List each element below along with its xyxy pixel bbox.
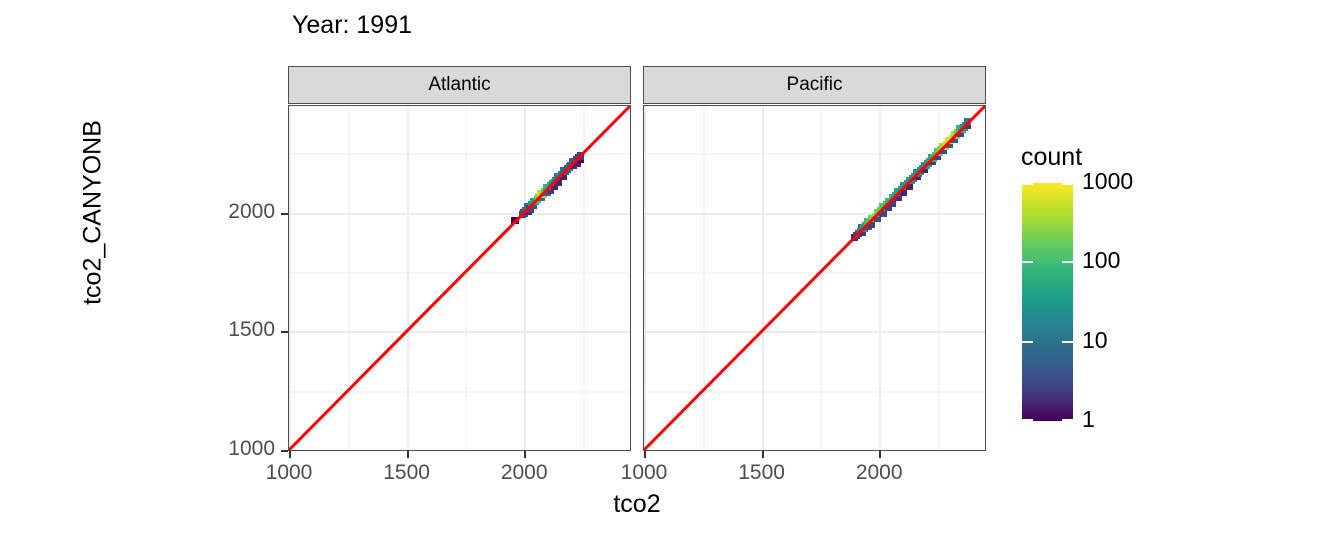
reference-line-1to1 bbox=[644, 106, 985, 450]
axis-tick-y bbox=[281, 213, 288, 215]
panel-plot-area bbox=[644, 106, 985, 450]
legend-tick-mark bbox=[1022, 183, 1033, 185]
legend-tick-mark bbox=[1062, 419, 1073, 421]
axis-tick-x bbox=[524, 451, 526, 458]
axis-tick-label-x: 1500 bbox=[357, 461, 457, 485]
panel-pacific bbox=[643, 105, 986, 451]
plot-root: Year: 1991 Atlantic Pacific 100015002000… bbox=[0, 0, 1344, 537]
facet-strip-atlantic: Atlantic bbox=[288, 66, 631, 104]
axis-tick-label-x: 2000 bbox=[474, 461, 574, 485]
legend-tick-mark bbox=[1062, 183, 1073, 185]
axis-tick-label-y: 1000 bbox=[170, 437, 275, 461]
axis-tick-x bbox=[407, 451, 409, 458]
axis-title-y: tco2_CANYONB bbox=[79, 63, 108, 363]
axis-tick-label-x: 2000 bbox=[829, 461, 929, 485]
axis-tick-x bbox=[879, 451, 881, 458]
legend-title: count bbox=[1021, 143, 1082, 172]
panel-plot-area bbox=[289, 106, 630, 450]
axis-title-x: tco2 bbox=[288, 490, 986, 519]
legend-tick-label: 1000 bbox=[1082, 168, 1133, 195]
legend-tick-label: 1 bbox=[1082, 406, 1095, 433]
gridline-major-y bbox=[289, 450, 630, 451]
axis-tick-label-y: 1500 bbox=[170, 318, 275, 342]
axis-tick-label-x: 1500 bbox=[712, 461, 812, 485]
axis-tick-label-x: 1000 bbox=[594, 461, 694, 485]
axis-tick-label-x: 1000 bbox=[239, 461, 339, 485]
legend-tick-mark bbox=[1022, 341, 1033, 343]
axis-tick-y bbox=[281, 450, 288, 452]
legend-tick-mark bbox=[1062, 261, 1073, 263]
reference-line-1to1 bbox=[289, 106, 630, 450]
facet-strip-label: Pacific bbox=[787, 74, 843, 96]
gridline-major-y bbox=[644, 450, 985, 451]
page-title: Year: 1991 bbox=[292, 11, 412, 40]
facet-strip-label: Atlantic bbox=[428, 74, 490, 96]
axis-tick-label-y: 2000 bbox=[170, 200, 275, 224]
legend-tick-label: 10 bbox=[1082, 327, 1108, 354]
legend-colorbar bbox=[1022, 183, 1073, 421]
legend-tick-mark bbox=[1062, 341, 1073, 343]
panel-atlantic bbox=[288, 105, 631, 451]
axis-tick-y bbox=[281, 331, 288, 333]
legend-tick-mark bbox=[1022, 419, 1033, 421]
axis-tick-x bbox=[644, 451, 646, 458]
legend-tick-label: 100 bbox=[1082, 247, 1120, 274]
legend-tick-mark bbox=[1022, 261, 1033, 263]
facet-strip-pacific: Pacific bbox=[643, 66, 986, 104]
axis-tick-x bbox=[289, 451, 291, 458]
axis-tick-x bbox=[762, 451, 764, 458]
